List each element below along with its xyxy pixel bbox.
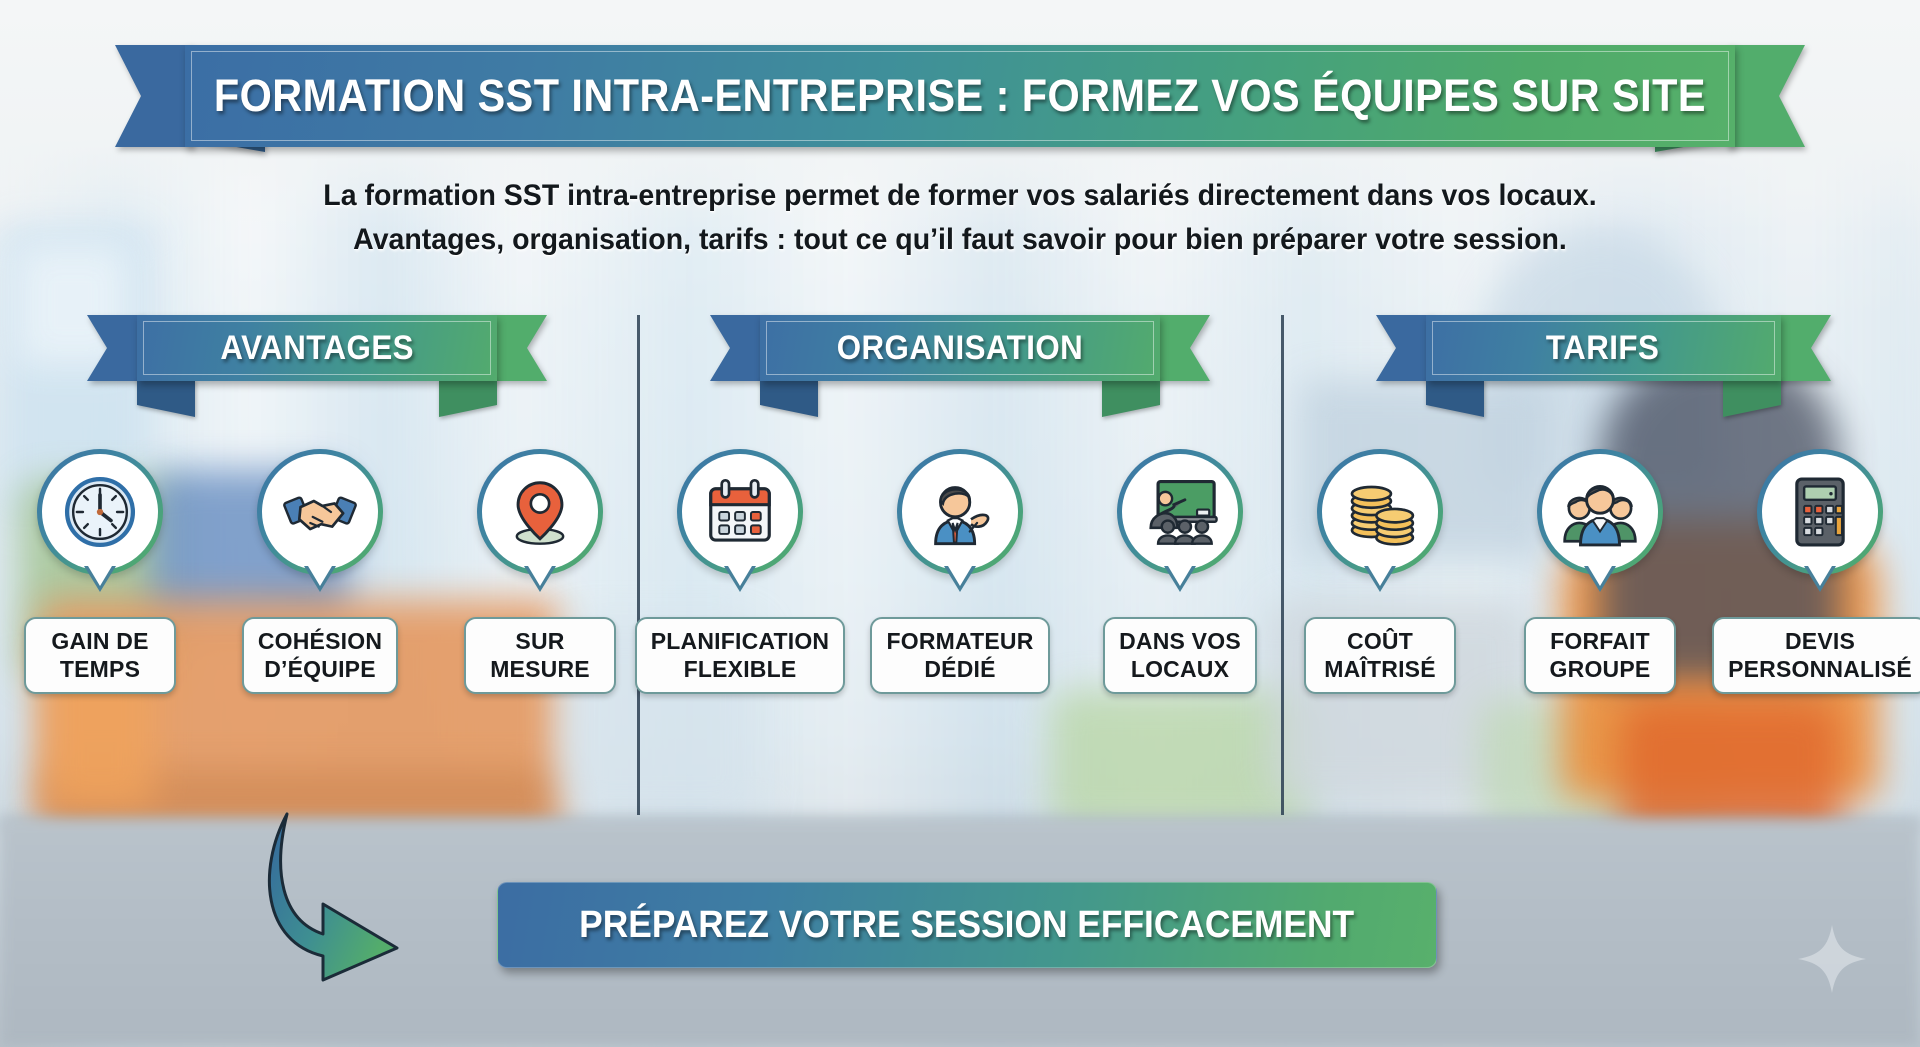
title-ribbon-body: FORMATION SST INTRA-ENTREPRISE : FORMEZ … xyxy=(185,45,1735,147)
coins-icon xyxy=(1341,473,1419,551)
columns-container: AVANTAGES xyxy=(0,315,1920,815)
subtitle-line-2: Avantages, organisation, tarifs : tout c… xyxy=(248,218,1673,262)
pin-item-devis-personnalise[interactable]: DEVIS PERSONNALISÉ xyxy=(1722,449,1918,694)
calendar-icon xyxy=(701,473,779,551)
calculator-icon xyxy=(1781,473,1859,551)
cta-banner[interactable]: PRÉPAREZ VOTRE SESSION EFFICACEMENT xyxy=(497,882,1437,968)
pins-tarifs: COÛT MAÎTRISÉ xyxy=(1282,449,1918,694)
pin-item-forfait-groupe[interactable]: FORFAIT GROUPE xyxy=(1502,449,1698,694)
pin-item-gain-de-temps[interactable]: GAIN DE TEMPS xyxy=(2,449,198,694)
pin-item-cout-maitrise[interactable]: COÛT MAÎTRISÉ xyxy=(1282,449,1478,694)
section-ribbon-organisation: ORGANISATION xyxy=(760,315,1160,381)
pin-bubble xyxy=(477,449,603,575)
page-subtitle: La formation SST intra-entreprise permet… xyxy=(248,174,1673,261)
pin-label: COÛT MAÎTRISÉ xyxy=(1304,617,1456,694)
section-ribbon-body: TARIFS xyxy=(1426,315,1781,381)
section-ribbon-tail-left xyxy=(87,315,143,381)
group-icon xyxy=(1561,473,1639,551)
section-fold-right xyxy=(1102,379,1160,417)
title-ribbon-tail-left xyxy=(115,45,193,147)
handshake-icon xyxy=(281,473,359,551)
section-ribbon-avantages: AVANTAGES xyxy=(137,315,497,381)
pin-bubble xyxy=(897,449,1023,575)
pin-label: SUR MESURE xyxy=(464,617,616,694)
column-tarifs: TARIFS xyxy=(1280,315,1920,815)
section-ribbon-tail-left xyxy=(710,315,766,381)
section-ribbon-body: AVANTAGES xyxy=(137,315,497,381)
section-ribbon-body: ORGANISATION xyxy=(760,315,1160,381)
pin-label: DANS VOS LOCAUX xyxy=(1103,617,1257,694)
section-ribbon-tarifs: TARIFS xyxy=(1426,315,1781,381)
pin-label: FORMATEUR DÉDIÉ xyxy=(870,617,1049,694)
pins-avantages: GAIN DE TEMPS xyxy=(2,449,638,694)
pin-label: DEVIS PERSONNALISÉ xyxy=(1712,617,1920,694)
pin-label: FORFAIT GROUPE xyxy=(1524,617,1676,694)
map-pin-icon xyxy=(501,473,579,551)
clock-icon xyxy=(61,473,139,551)
section-title-avantages: AVANTAGES xyxy=(220,329,414,368)
pin-bubble xyxy=(1757,449,1883,575)
pin-item-cohesion-d-equipe[interactable]: COHÉSION D’ÉQUIPE xyxy=(222,449,418,694)
pin-bubble xyxy=(1117,449,1243,575)
pin-label: GAIN DE TEMPS xyxy=(24,617,176,694)
subtitle-line-1: La formation SST intra-entreprise permet… xyxy=(248,174,1673,218)
pin-bubble xyxy=(1317,449,1443,575)
cta-label: PRÉPAREZ VOTRE SESSION EFFICACEMENT xyxy=(580,904,1355,947)
infographic-canvas: FORMATION SST INTRA-ENTREPRISE : FORMEZ … xyxy=(0,0,1920,1047)
pins-organisation: PLANIFICATION FLEXIBLE xyxy=(642,449,1278,694)
sparkle-icon xyxy=(1796,923,1868,995)
section-fold-left xyxy=(760,379,818,417)
curved-arrow-icon xyxy=(265,808,465,983)
pin-bubble xyxy=(37,449,163,575)
section-ribbon-tail-right xyxy=(1154,315,1210,381)
section-ribbon-tail-left xyxy=(1376,315,1432,381)
column-avantages: AVANTAGES xyxy=(0,315,640,815)
pin-item-planification-flexible[interactable]: PLANIFICATION FLEXIBLE xyxy=(642,449,838,694)
section-fold-right xyxy=(1723,379,1781,417)
pin-bubble xyxy=(677,449,803,575)
pin-bubble xyxy=(257,449,383,575)
section-fold-left xyxy=(1426,379,1484,417)
pin-item-formateur-dedie[interactable]: FORMATEUR DÉDIÉ xyxy=(862,449,1058,694)
section-title-organisation: ORGANISATION xyxy=(837,329,1084,368)
page-title: FORMATION SST INTRA-ENTREPRISE : FORMEZ … xyxy=(214,70,1706,122)
section-title-tarifs: TARIFS xyxy=(1546,329,1659,368)
section-fold-right xyxy=(439,379,497,417)
pin-label: COHÉSION D’ÉQUIPE xyxy=(242,617,398,694)
column-organisation: ORGANISATION xyxy=(640,315,1280,815)
pin-item-dans-vos-locaux[interactable]: DANS VOS LOCAUX xyxy=(1082,449,1278,694)
section-ribbon-tail-right xyxy=(491,315,547,381)
pin-label: PLANIFICATION FLEXIBLE xyxy=(635,617,846,694)
section-ribbon-tail-right xyxy=(1775,315,1831,381)
classroom-icon xyxy=(1141,473,1219,551)
section-fold-left xyxy=(137,379,195,417)
trainer-icon xyxy=(921,473,999,551)
pin-bubble xyxy=(1537,449,1663,575)
title-ribbon: FORMATION SST INTRA-ENTREPRISE : FORMEZ … xyxy=(185,45,1735,147)
pin-item-sur-mesure[interactable]: SUR MESURE xyxy=(442,449,638,694)
title-ribbon-tail-right xyxy=(1727,45,1805,147)
